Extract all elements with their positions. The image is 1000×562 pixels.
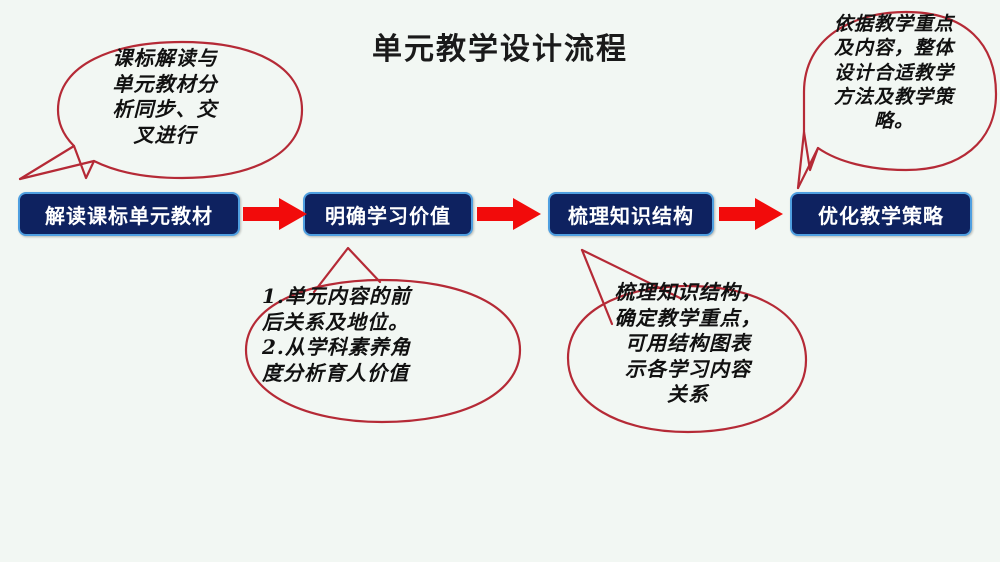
callout-bubble-text: 课标解读与 单元教材分 析同步、交 叉进行: [40, 46, 290, 148]
flow-step-organize-knowledge-structure[interactable]: 梳理知识结构: [548, 192, 714, 236]
flow-step-label: 明确学习价值: [325, 200, 451, 229]
flow-step-clarify-learning-value[interactable]: 明确学习价值: [303, 192, 473, 236]
callout-bubble-text: 1.单元内容的前 后关系及地位。 2.从学科素养角 度分析育人价值: [262, 284, 510, 386]
callout-bubble-course-standard: 课标解读与 单元教材分 析同步、交 叉进行: [14, 28, 314, 198]
arrow-right-icon: [243, 198, 307, 230]
flow-step-label: 梳理知识结构: [568, 200, 694, 229]
flow-step-optimize-teaching-strategy[interactable]: 优化教学策略: [790, 192, 972, 236]
callout-bubble-text: 依据教学重点 及内容，整体 设计合适教学 方法及教学策 略。: [796, 12, 992, 134]
callout-bubble-teaching-strategy: 依据教学重点 及内容，整体 设计合适教学 方法及教学策 略。: [780, 2, 1000, 202]
arrow-right-icon: [719, 198, 783, 230]
flow-step-interpret-curriculum[interactable]: 解读课标单元教材: [18, 192, 240, 236]
slide-canvas: 单元教学设计流程 课标解读与 单元教材分 析同步、交 叉进行 依据教学重点 及内…: [0, 0, 1000, 562]
arrow-right-icon: [477, 198, 541, 230]
flow-step-label: 解读课标单元教材: [45, 200, 213, 229]
callout-bubble-learning-value: 1.单元内容的前 后关系及地位。 2.从学科素养角 度分析育人价值: [240, 248, 530, 438]
flow-step-label: 优化教学策略: [818, 200, 944, 229]
callout-bubble-knowledge-structure: 梳理知识结构， 确定教学重点， 可用结构图表 示各学习内容 关系: [562, 250, 812, 450]
callout-bubble-text: 梳理知识结构， 确定教学重点， 可用结构图表 示各学习内容 关系: [580, 280, 796, 408]
